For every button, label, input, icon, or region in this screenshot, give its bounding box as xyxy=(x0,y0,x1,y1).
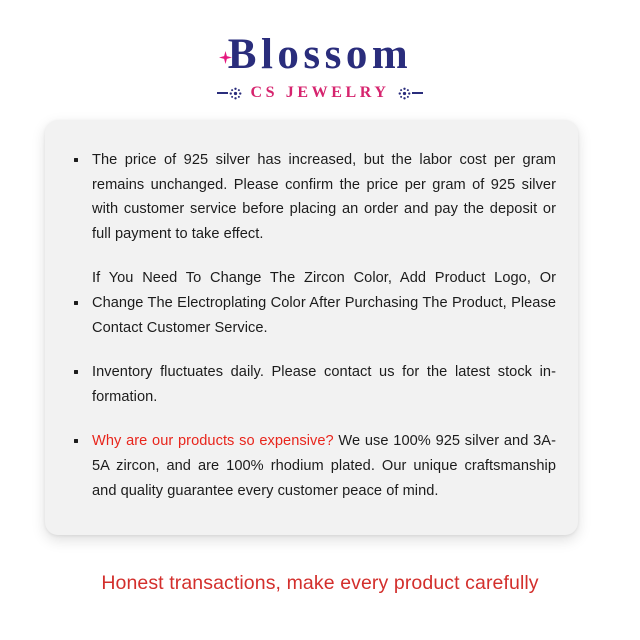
flourish-dash-left-icon xyxy=(217,92,228,94)
footer-tagline: Honest transactions, make every product … xyxy=(0,570,640,596)
list-item-text: The price of 925 silver has increased, b… xyxy=(92,152,556,242)
square-bullet-icon xyxy=(74,370,78,374)
list-item: Inventory fluctuates daily. Please conta… xyxy=(71,360,556,409)
square-bullet-icon xyxy=(74,439,78,443)
brand-header: Blossom CS JEWELRY xyxy=(0,30,640,102)
list-item-text: Inventory fluctuates daily. Please conta… xyxy=(92,364,556,405)
brand-subtitle: CS JEWELRY xyxy=(250,84,389,102)
notice-card: The price of 925 silver has increased, b… xyxy=(45,120,578,535)
snowflake-ornament-left-icon xyxy=(228,86,243,101)
flourish-dash-right-icon xyxy=(412,92,423,94)
list-item: If You Need To Change The Zircon Color, … xyxy=(71,266,556,340)
flourish-left xyxy=(217,86,243,101)
list-item: The price of 925 silver has increased, b… xyxy=(71,148,556,246)
list-item-text: If You Need To Change The Zircon Color, … xyxy=(92,270,556,335)
brand-subtitle-row: CS JEWELRY xyxy=(0,84,640,102)
snowflake-ornament-right-icon xyxy=(397,86,412,101)
flourish-right xyxy=(397,86,423,101)
notice-bullet-list: The price of 925 silver has increased, b… xyxy=(71,148,556,503)
list-item: Why are our products so expensive? We us… xyxy=(71,429,556,503)
brand-title: Blossom xyxy=(228,30,412,80)
square-bullet-icon xyxy=(74,158,78,162)
list-item-highlight: Why are our products so expensive? xyxy=(92,433,334,449)
brand-title-text: Blossom xyxy=(228,31,412,78)
square-bullet-icon xyxy=(74,301,78,305)
